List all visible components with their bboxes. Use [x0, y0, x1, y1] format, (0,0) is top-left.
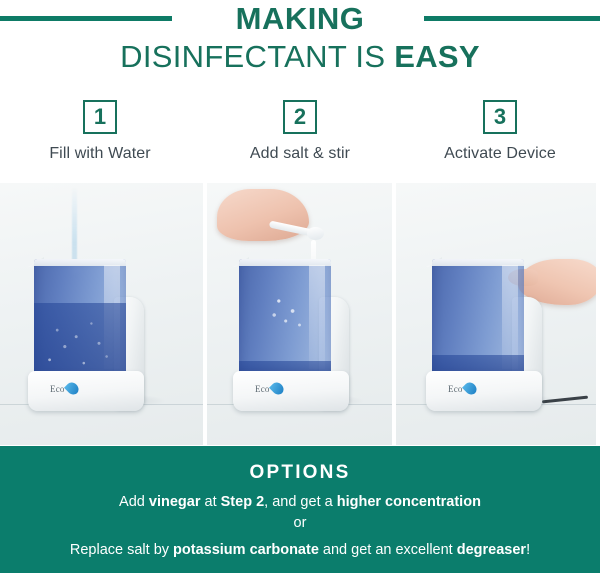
brand-logo-text: Eco — [448, 384, 463, 394]
photo-step-3: Eco — [396, 183, 596, 445]
options-title: OPTIONS — [0, 462, 600, 484]
photo-strip: Eco Eco — [0, 183, 600, 445]
spoon-bowl — [307, 227, 324, 240]
step-3: 3 Activate Device — [400, 96, 600, 180]
water-stream — [72, 187, 77, 265]
options-line-2-bold-degreaser: degreaser — [457, 542, 526, 558]
brand-logo-text: Eco — [50, 384, 65, 394]
page-title-normal: DISINFECTANT IS — [120, 39, 394, 74]
device-base: Eco — [426, 371, 542, 411]
device-jug — [239, 259, 331, 377]
options-line-1-pre: Add — [119, 494, 149, 510]
jug-gloss — [502, 265, 518, 369]
options-line-1-mid-2: , and get a — [264, 494, 337, 510]
step-3-label: Activate Device — [444, 145, 556, 163]
steps-row: 1 Fill with Water 2 Add salt & stir 3 Ac… — [0, 96, 600, 180]
step-1-number: 1 — [94, 104, 106, 130]
photo-step-2: Eco — [207, 183, 392, 445]
options-line-1-bold-concentration: higher concentration — [337, 494, 481, 510]
step-1-number-box: 1 — [83, 100, 117, 134]
options-line-2-bold-carbonate: potassium carbonate — [173, 542, 319, 558]
bubbles — [42, 307, 118, 373]
brand-logo-text: Eco — [255, 384, 270, 394]
step-1: 1 Fill with Water — [0, 96, 200, 180]
page-title-line-2: DISINFECTANT IS EASY — [0, 38, 600, 76]
brand-logo: Eco — [50, 382, 78, 395]
page-title-line-1: MAKING — [0, 1, 600, 37]
options-line-2-post: ! — [526, 542, 530, 558]
step-1-label: Fill with Water — [49, 145, 150, 163]
options-line-1: Add vinegar at Step 2, and get a higher … — [0, 493, 600, 511]
options-line-2-pre: Replace salt by — [70, 542, 173, 558]
device-base: Eco — [233, 371, 349, 411]
header: MAKING DISINFECTANT IS EASY — [0, 0, 600, 88]
device-base: Eco — [28, 371, 144, 411]
photo-step-1: Eco — [0, 183, 203, 445]
water-drop-icon — [64, 380, 81, 397]
step-3-number: 3 — [494, 104, 506, 130]
options-line-2-mid: and get an excellent — [319, 542, 457, 558]
water-drop-icon — [269, 380, 286, 397]
options-section: OPTIONS Add vinegar at Step 2, and get a… — [0, 446, 600, 573]
brand-logo: Eco — [448, 382, 476, 395]
dissolving-salt — [265, 293, 311, 333]
device-jug — [432, 259, 524, 377]
options-line-1-bold-vinegar: vinegar — [149, 494, 201, 510]
jug-gloss — [309, 265, 325, 369]
brand-logo: Eco — [255, 382, 283, 395]
options-line-1-bold-step: Step 2 — [221, 494, 265, 510]
step-2-number: 2 — [294, 104, 306, 130]
page-title-emphasis: EASY — [394, 39, 480, 74]
device-jug — [34, 259, 126, 377]
step-2-number-box: 2 — [283, 100, 317, 134]
step-2: 2 Add salt & stir — [200, 96, 400, 180]
step-3-number-box: 3 — [483, 100, 517, 134]
water-drop-icon — [462, 380, 479, 397]
options-or: or — [0, 514, 600, 532]
options-line-2: Replace salt by potassium carbonate and … — [0, 541, 600, 559]
options-line-1-mid-1: at — [200, 494, 220, 510]
hand-icon — [217, 189, 309, 241]
step-2-label: Add salt & stir — [250, 145, 350, 163]
